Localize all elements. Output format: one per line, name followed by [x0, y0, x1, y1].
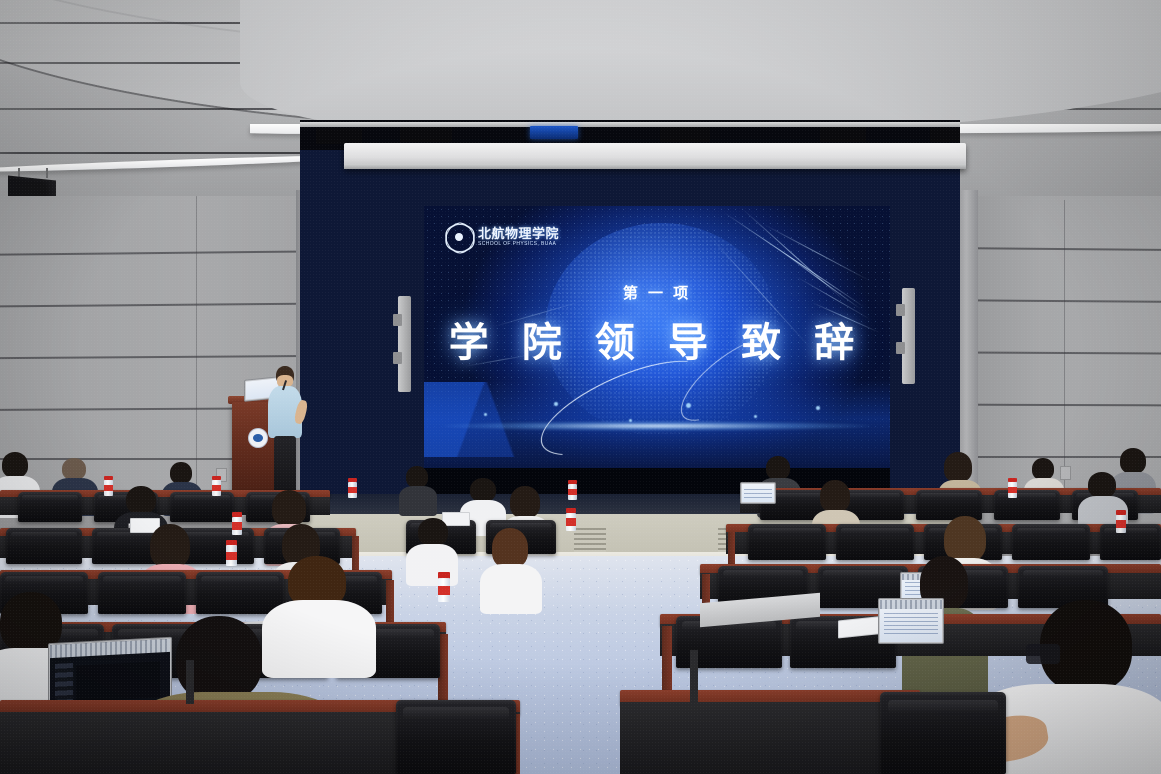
led-presentation-screen: 北航物理学院 SCHOOL OF PHYSICS, BUAA 第 一 项 学 院…: [424, 206, 890, 494]
panel-bracket: [393, 314, 402, 326]
wall-outlet: [1060, 466, 1071, 480]
water-bottle: [104, 476, 113, 496]
seat[interactable]: [6, 528, 82, 564]
seat[interactable]: [916, 490, 982, 520]
slide-title: 学 院 领 导 致 辞: [424, 310, 890, 368]
water-bottle: [438, 572, 450, 602]
laptop-screen: [742, 484, 774, 502]
wall-light-panel: [398, 296, 411, 392]
atom-icon: [446, 224, 472, 250]
seat[interactable]: [170, 492, 234, 522]
wall-seam: [196, 196, 197, 496]
slide-logo-en: SCHOOL OF PHYSICS, BUAA: [478, 242, 559, 247]
laptop-lid: [878, 598, 944, 644]
panel-bracket: [896, 304, 905, 316]
water-bottle: [568, 480, 577, 500]
seat-support: [186, 660, 194, 704]
eyeglasses-icon: [1026, 644, 1060, 664]
ceiling-curved-panel: [240, 0, 1161, 132]
stage-light: [316, 128, 362, 144]
laptop-slide: [76, 661, 160, 701]
speaker-pants: [274, 436, 296, 494]
name-card: [442, 512, 470, 526]
seat[interactable]: [396, 700, 516, 774]
panel-bracket: [896, 342, 905, 354]
wall-light-panel: [902, 288, 915, 384]
seat[interactable]: [1100, 524, 1161, 560]
water-bottle: [226, 540, 237, 566]
panel-bracket: [393, 352, 402, 364]
speaker-mount-rod: [46, 168, 48, 178]
seat[interactable]: [98, 572, 186, 614]
seat[interactable]: [18, 492, 82, 522]
stage-light: [400, 127, 452, 142]
projector-screen-housing: [344, 143, 966, 169]
seat[interactable]: [994, 490, 1060, 520]
water-bottle: [348, 478, 357, 498]
slide-logo: 北航物理学院 SCHOOL OF PHYSICS, BUAA: [446, 224, 559, 250]
water-bottle: [1008, 478, 1017, 498]
laptop-screen: [880, 600, 942, 642]
stage-light-blue: [530, 126, 578, 139]
stage-light: [820, 127, 866, 142]
seat-support: [690, 650, 698, 706]
seat[interactable]: [880, 692, 1006, 774]
housing-lip: [344, 164, 966, 169]
stage-vent-grille: [574, 528, 606, 554]
seat[interactable]: [196, 572, 284, 614]
water-bottle: [212, 476, 221, 496]
seat[interactable]: [836, 524, 914, 560]
water-bottle: [1116, 510, 1126, 533]
seat[interactable]: [748, 524, 826, 560]
lecture-hall-photo: 北航物理学院 SCHOOL OF PHYSICS, BUAA 第 一 项 学 院…: [0, 0, 1161, 774]
stage-light: [660, 127, 710, 142]
slide-logo-cn: 北航物理学院: [478, 227, 559, 240]
seat[interactable]: [1012, 524, 1090, 560]
slide-subtitle: 第 一 项: [424, 282, 890, 303]
wall-seam: [1064, 200, 1065, 500]
stage-light: [930, 128, 960, 142]
laptop-lid: [740, 482, 776, 504]
water-bottle: [566, 508, 576, 531]
podium-emblem: [248, 428, 268, 448]
water-bottle: [232, 512, 242, 535]
slide-canvas: 北航物理学院 SCHOOL OF PHYSICS, BUAA 第 一 项 学 院…: [424, 206, 890, 494]
